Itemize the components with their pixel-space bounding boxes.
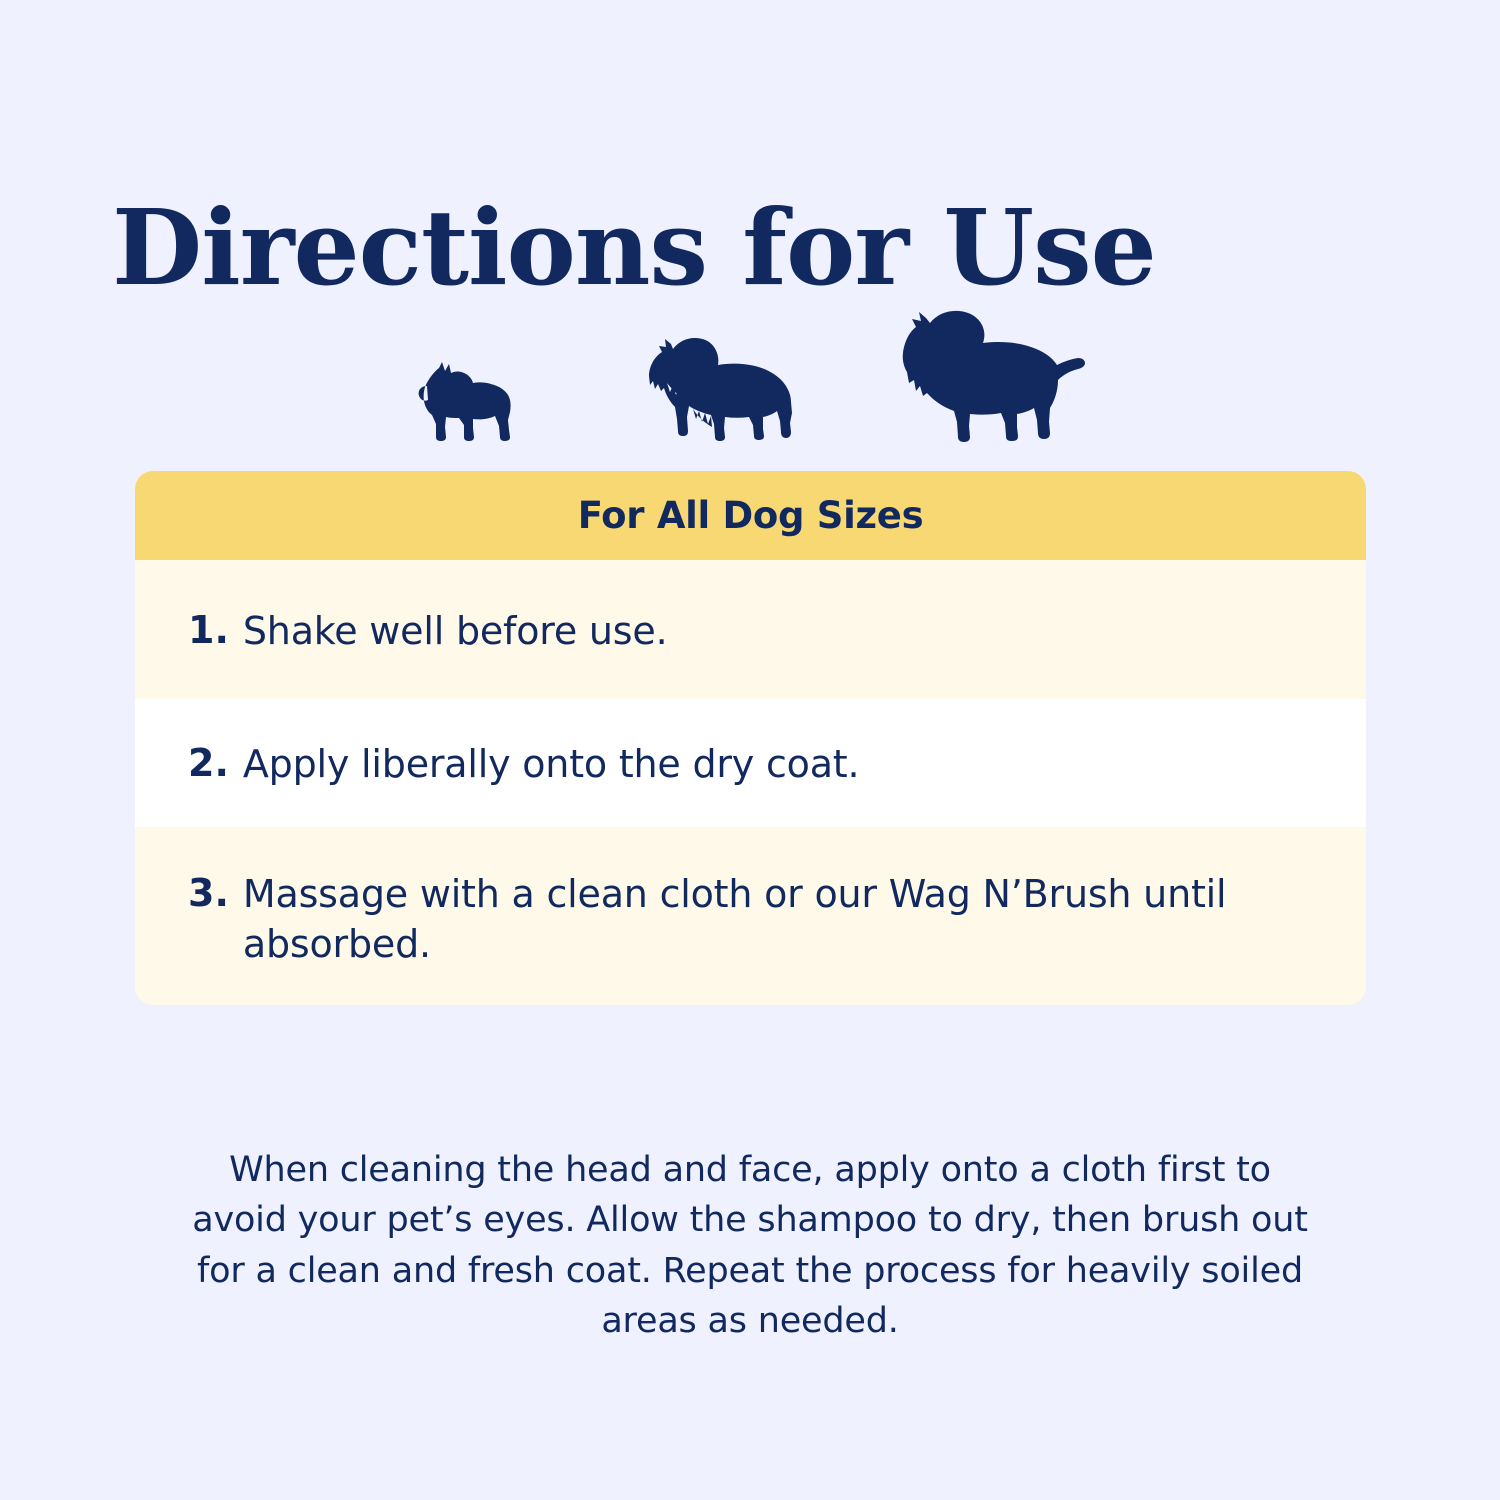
card-header-title: For All Dog Sizes <box>578 494 924 537</box>
step-text: Apply liberally onto the dry coat. <box>243 739 860 789</box>
card-header: For All Dog Sizes <box>135 471 1366 560</box>
small-dog-silhouette <box>415 362 515 442</box>
directions-card: For All Dog Sizes 1. Shake well before u… <box>135 471 1366 1005</box>
directions-for-use-panel: Directions for Use For All Dog Sizes 1. … <box>0 0 1500 1500</box>
step-number: 3. <box>188 869 229 918</box>
step-row: 3. Massage with a clean cloth or our Wag… <box>135 827 1366 1005</box>
large-dog-silhouette <box>893 310 1086 442</box>
step-row: 2. Apply liberally onto the dry coat. <box>135 699 1366 827</box>
step-number: 2. <box>188 739 229 788</box>
step-number: 1. <box>188 606 229 655</box>
page-title: Directions for Use <box>112 192 1156 304</box>
step-row: 1. Shake well before use. <box>135 560 1366 699</box>
medium-dog-silhouette <box>645 335 793 442</box>
dog-size-illustration <box>0 300 1500 450</box>
usage-note: When cleaning the head and face, apply o… <box>190 1145 1310 1347</box>
step-text: Massage with a clean cloth or our Wag N’… <box>243 869 1303 969</box>
step-text: Shake well before use. <box>243 606 668 656</box>
